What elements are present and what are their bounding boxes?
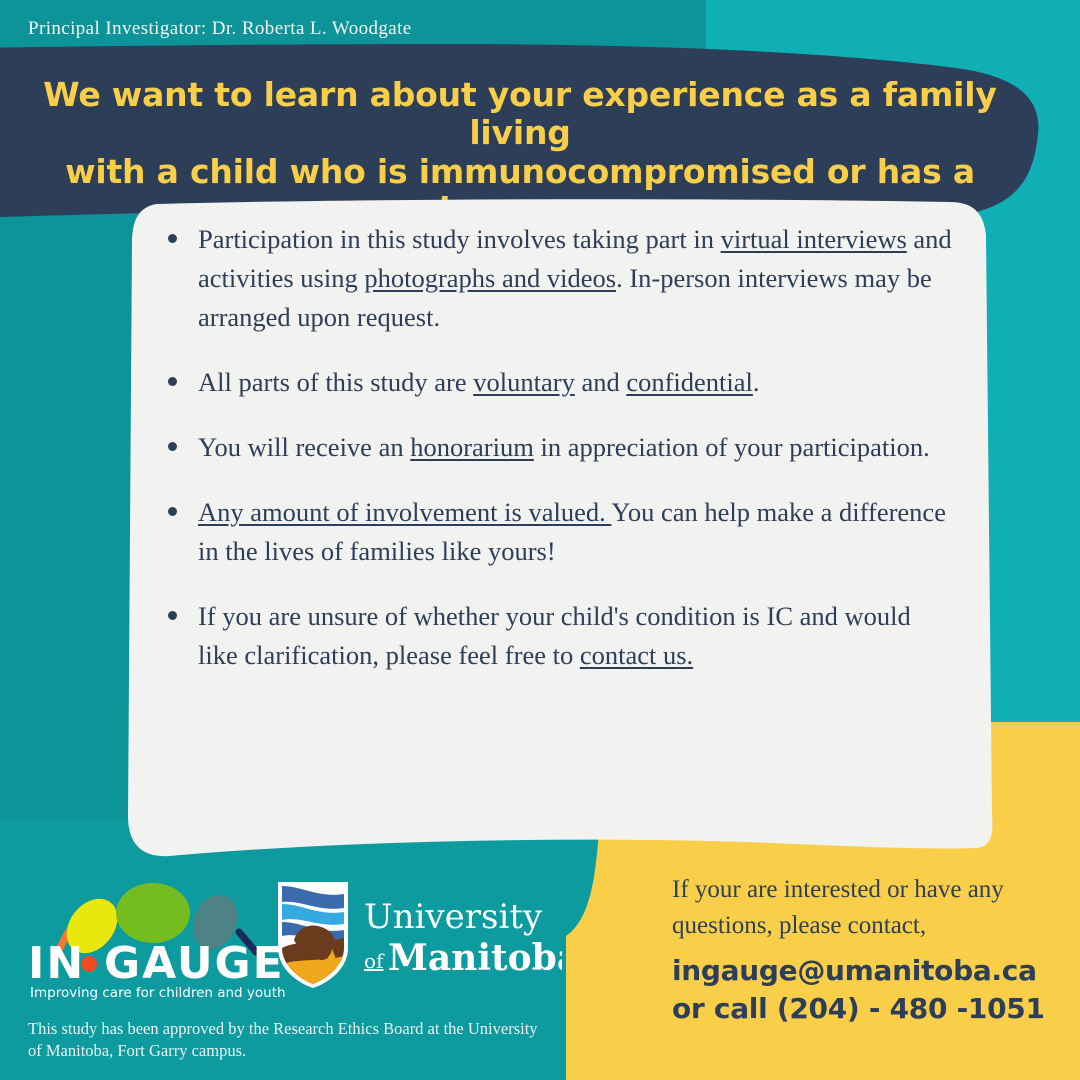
bullet-text: If you are unsure of whether your child'… xyxy=(198,601,911,670)
principal-investigator-line: Principal Investigator: Dr. Roberta L. W… xyxy=(28,18,412,40)
bullet-emphasis: honorarium xyxy=(410,432,534,462)
uofm-of: of xyxy=(364,949,385,973)
bullet-text: Participation in this study involves tak… xyxy=(198,224,721,254)
bullet-dot-icon xyxy=(168,442,177,451)
bullet-participation: Participation in this study involves tak… xyxy=(162,220,952,337)
bullet-honorarium: You will receive an honorarium in apprec… xyxy=(162,428,952,467)
contact-phone[interactable]: or call (204) - 480 -1051 xyxy=(672,990,1076,1028)
contact-email[interactable]: ingauge@umanitoba.ca xyxy=(672,952,1076,990)
bullet-emphasis: Any amount of involvement is valued. xyxy=(198,497,611,527)
bullet-list: Participation in this study involves tak… xyxy=(162,220,952,675)
content-card: Participation in this study involves tak… xyxy=(126,196,994,872)
contact-intro-text: If your are interested or have any quest… xyxy=(672,872,1072,943)
university-of-manitoba-logo: University of Manitoba xyxy=(272,878,562,990)
bullet-dot-icon xyxy=(168,234,177,243)
bullet-emphasis: voluntary xyxy=(473,367,575,397)
ingauge-logo: IN GAUGE Improving care for children and… xyxy=(26,866,288,1002)
uofm-line-1: University xyxy=(364,897,543,937)
bullet-text: in appreciation of your participation. xyxy=(534,432,930,462)
svg-text:GAUGE: GAUGE xyxy=(104,938,285,989)
bullet-involvement-valued: Any amount of involvement is valued. You… xyxy=(162,493,952,571)
bullet-emphasis: photographs and videos xyxy=(364,263,616,293)
uofm-line-2: Manitoba xyxy=(388,937,562,979)
ingauge-wordmark: IN GAUGE xyxy=(28,938,285,989)
bullet-emphasis: confidential xyxy=(626,367,753,397)
bullet-dot-icon xyxy=(168,377,177,386)
uofm-crest-icon xyxy=(278,882,348,988)
bullet-text: . xyxy=(753,367,760,397)
svg-text:IN: IN xyxy=(28,938,85,989)
bullet-dot-icon xyxy=(168,507,177,516)
bullet-text: All parts of this study are xyxy=(198,367,473,397)
bullet-dot-icon xyxy=(168,611,177,620)
bullet-unsure-clarification: If you are unsure of whether your child'… xyxy=(162,597,952,675)
headline-line-1: We want to learn about your experience a… xyxy=(40,76,1000,153)
bullet-emphasis: contact us. xyxy=(580,640,693,670)
contact-details: ingauge@umanitoba.ca or call (204) - 480… xyxy=(672,952,1076,1028)
ingauge-dot xyxy=(81,956,97,972)
bullet-voluntary-confidential: All parts of this study are voluntary an… xyxy=(162,363,952,402)
poster-canvas: Principal Investigator: Dr. Roberta L. W… xyxy=(0,0,1080,1080)
bullet-text: You will receive an xyxy=(198,432,410,462)
ethics-approval-note: This study has been approved by the Rese… xyxy=(28,1018,548,1062)
bullet-emphasis: virtual interviews xyxy=(721,224,907,254)
ingauge-tagline: Improving care for children and youth xyxy=(30,985,286,1001)
bullet-text: and xyxy=(575,367,627,397)
